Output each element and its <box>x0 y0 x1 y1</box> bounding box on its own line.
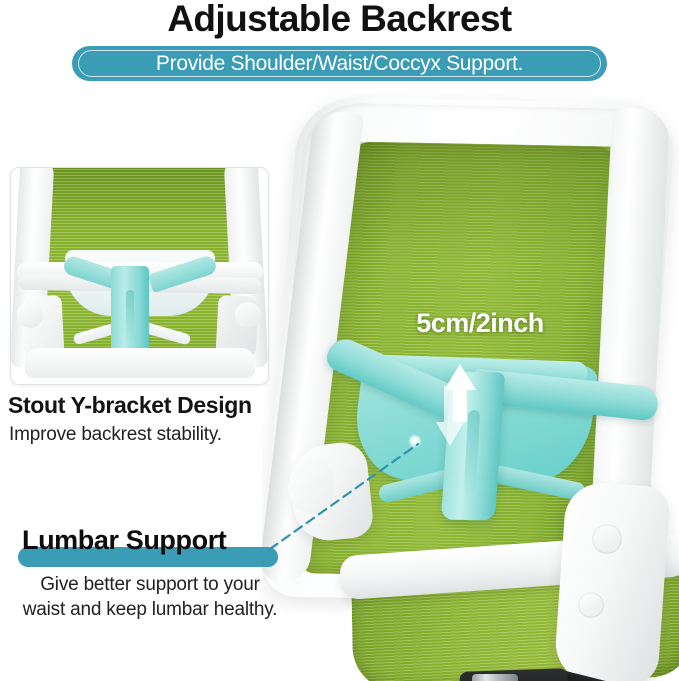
subtitle-banner-inner-border: Provide Shoulder/Waist/Coccyx Support. <box>78 50 601 77</box>
lumbar-description-line-1: Give better support to your <box>0 572 300 597</box>
pivot-cap-left <box>288 460 334 514</box>
pivot-knob-lower <box>578 592 604 618</box>
lumbar-description-line-2: waist and keep lumbar healthy. <box>0 597 300 622</box>
subtitle-text: Provide Shoulder/Waist/Coccyx Support. <box>156 52 523 76</box>
inset-seat-base <box>25 348 255 378</box>
feature-description-lumbar-support: Give better support to your waist and ke… <box>0 572 300 622</box>
feature-heading-y-bracket: Stout Y-bracket Design <box>8 392 252 419</box>
inset-pivot-knob-right <box>235 302 261 328</box>
adjustment-range-label: 5cm/2inch <box>380 308 580 339</box>
chair-support-arm-right <box>553 481 671 681</box>
feature-heading-lumbar-support: Lumbar Support <box>22 525 226 556</box>
page-title: Adjustable Backrest <box>0 0 679 40</box>
inset-y-bracket-stem-groove <box>126 290 134 340</box>
zoom-detail-panel <box>10 167 269 385</box>
inset-pivot-knob-left <box>17 302 43 328</box>
feature-description-y-bracket: Improve backrest stability. <box>9 424 222 446</box>
subtitle-banner: Provide Shoulder/Waist/Coccyx Support. <box>72 46 607 81</box>
backrest-mesh-shading <box>312 141 623 267</box>
pivot-knob-upper <box>592 524 622 554</box>
up-down-arrow-icon <box>434 360 480 472</box>
gas-cylinder-chrome <box>472 674 518 681</box>
callout-anchor-glow <box>408 434 422 448</box>
